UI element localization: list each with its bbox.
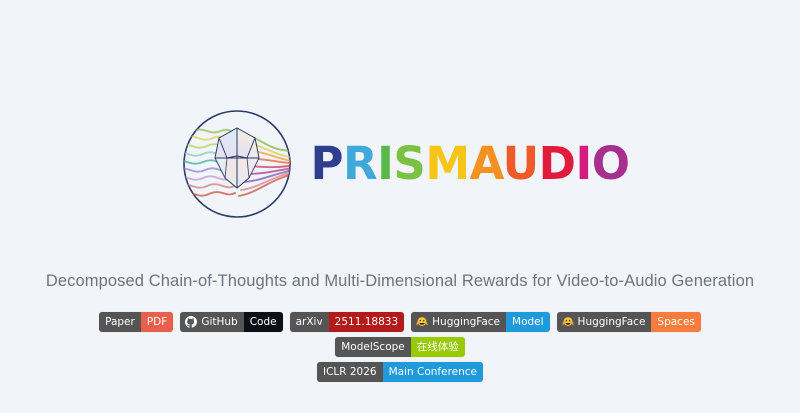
badge-huggingface-model[interactable]: HuggingFace Model	[411, 312, 549, 332]
badge-github-code[interactable]: GitHub Code	[180, 312, 282, 332]
badge-left-segment: Paper	[99, 312, 141, 332]
wordmark-letter-8: I	[575, 137, 591, 190]
wordmark-letter-4: M	[425, 137, 469, 190]
wordmark-letter-2: I	[377, 137, 393, 190]
badge-iclr-main-conference[interactable]: ICLR 2026 Main Conference	[317, 362, 483, 382]
badge-left-segment: ModelScope	[335, 337, 411, 357]
badge-left-segment: ICLR 2026	[317, 362, 383, 382]
wordmark-letter-7: D	[539, 137, 576, 190]
wordmark: PRISMAUDIO	[311, 141, 630, 188]
badge-huggingface-spaces[interactable]: HuggingFace Spaces	[557, 312, 701, 332]
wordmark-letter-6: U	[503, 137, 539, 190]
page-root: PRISMAUDIO Decomposed Chain-of-Thoughts …	[0, 0, 800, 413]
prism-waveform-circle-icon	[171, 104, 303, 224]
wordmark-letter-3: S	[393, 137, 425, 190]
badge-left-segment: HuggingFace	[411, 312, 506, 332]
badge-left-segment: HuggingFace	[557, 312, 652, 332]
page-subtitle: Decomposed Chain-of-Thoughts and Multi-D…	[46, 272, 754, 291]
logo-lockup: PRISMAUDIO	[171, 104, 630, 224]
badge-right-segment: Model	[506, 312, 550, 332]
hugging-face-emoji-icon	[562, 316, 574, 328]
wordmark-letter-5: A	[470, 137, 503, 190]
badge-left-segment: GitHub	[180, 312, 243, 332]
badge-right-segment: 在线体验	[411, 337, 465, 357]
badge-right-segment: PDF	[141, 312, 173, 332]
badge-right-segment: Main Conference	[383, 362, 483, 382]
badge-right-segment: Code	[244, 312, 283, 332]
badge-paper-pdf[interactable]: Paper PDF	[99, 312, 173, 332]
wordmark-letter-9: O	[592, 137, 630, 190]
badge-right-segment: Spaces	[651, 312, 700, 332]
wordmark-letter-1: R	[343, 137, 377, 190]
hugging-face-emoji-icon	[416, 316, 428, 328]
badge-row-primary: Paper PDF GitHub Code arXiv 2511.18833	[50, 312, 750, 357]
wordmark-letter-0: P	[311, 137, 343, 190]
badge-right-segment: 2511.18833	[329, 312, 404, 332]
badge-modelscope-demo[interactable]: ModelScope 在线体验	[335, 337, 465, 357]
badge-arxiv[interactable]: arXiv 2511.18833	[290, 312, 405, 332]
github-icon	[185, 316, 197, 328]
badge-left-segment: arXiv	[290, 312, 329, 332]
badge-row-secondary: ICLR 2026 Main Conference	[317, 362, 483, 382]
